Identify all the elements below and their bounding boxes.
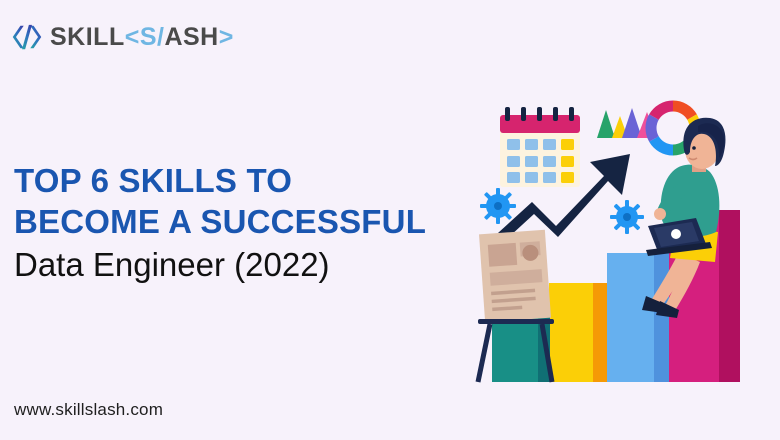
chart-bar-2: [549, 283, 607, 382]
code-bracket-icon: [12, 22, 42, 52]
logo-word-ash: ASH: [164, 25, 218, 50]
website-url[interactable]: www.skillslash.com: [14, 400, 163, 420]
logo-word-slash: /: [157, 25, 164, 50]
subheadline: Data Engineer (2022): [14, 242, 484, 288]
data-analytics-illustration: [470, 80, 780, 390]
calendar-icon: [500, 107, 580, 187]
chart-bar-3: [607, 253, 669, 382]
logo-word-open-s: <S: [125, 25, 157, 50]
logo-word-close: >: [219, 25, 234, 50]
logo-wordmark: SKILL<S/ASH>: [50, 25, 234, 50]
headline-block: TOP 6 SKILLS TO BECOME A SUCCESSFUL Data…: [14, 160, 484, 288]
headline-line-1: TOP 6 SKILLS TO: [14, 160, 484, 201]
gear-icon: [610, 200, 644, 234]
banner-canvas: SKILL<S/ASH> TOP 6 SKILLS TO BECOME A SU…: [0, 0, 780, 440]
headline-line-2: BECOME A SUCCESSFUL: [14, 201, 484, 242]
logo-word-skill: SKILL: [50, 25, 125, 50]
brand-logo[interactable]: SKILL<S/ASH>: [12, 22, 234, 52]
gear-icon: [480, 188, 516, 224]
